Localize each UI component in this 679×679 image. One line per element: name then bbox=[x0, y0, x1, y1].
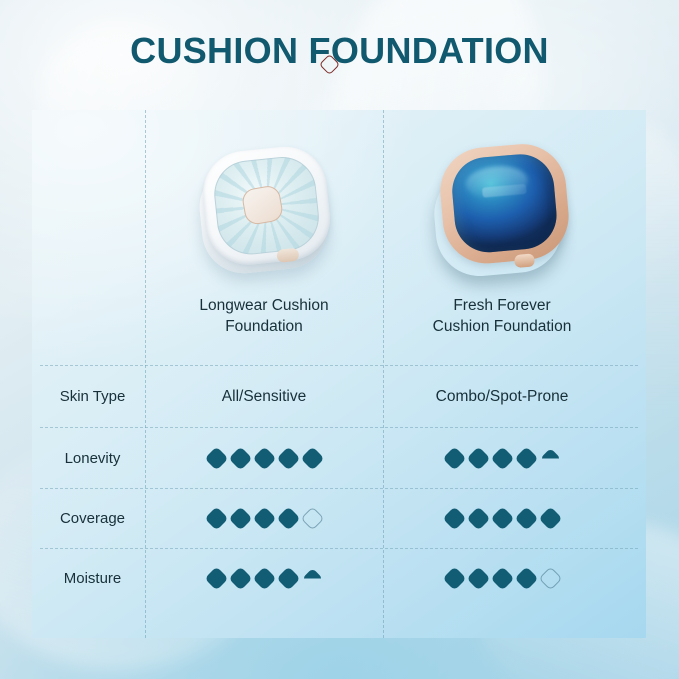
rating-diamond-full bbox=[446, 570, 463, 587]
rating-diamond-full bbox=[494, 570, 511, 587]
row-divider bbox=[40, 427, 638, 428]
longevity-rating-fresh-forever bbox=[383, 450, 621, 467]
rating-diamond-full bbox=[232, 510, 249, 527]
rating-diamond-empty bbox=[304, 510, 321, 527]
product-header-longwear[interactable]: Longwear Cushion Foundation bbox=[145, 124, 383, 364]
rating-diamond-half bbox=[304, 570, 321, 587]
rating-diamond-full bbox=[446, 510, 463, 527]
coverage-rating-fresh-forever bbox=[383, 510, 621, 527]
product-name-fresh-forever: Fresh Forever Cushion Foundation bbox=[383, 296, 621, 338]
navy-gold-cushion-compact-icon bbox=[422, 134, 582, 286]
rating-diamond-full bbox=[256, 570, 273, 587]
page-title: CUSHION FOUNDATION bbox=[130, 30, 549, 72]
rating-diamond-full bbox=[494, 510, 511, 527]
title-area: CUSHION FOUNDATION bbox=[0, 30, 679, 72]
rating-diamond-full bbox=[518, 510, 535, 527]
coverage-rating-longwear bbox=[145, 510, 383, 527]
product-header-fresh-forever[interactable]: Fresh Forever Cushion Foundation bbox=[383, 124, 621, 364]
skin-type-value-longwear: All/Sensitive bbox=[145, 388, 383, 406]
row-divider bbox=[40, 488, 638, 489]
rating-diamond-full bbox=[542, 510, 559, 527]
rating-diamond-full bbox=[256, 450, 273, 467]
skin-type-value-fresh-forever: Combo/Spot-Prone bbox=[383, 388, 621, 406]
rating-diamond-full bbox=[208, 510, 225, 527]
rating-diamond-full bbox=[518, 450, 535, 467]
rating-diamond-full bbox=[232, 570, 249, 587]
rating-diamond-full bbox=[280, 450, 297, 467]
rating-diamond-full bbox=[208, 450, 225, 467]
row-label-longevity: Lonevity bbox=[40, 450, 145, 467]
moisture-rating-longwear bbox=[145, 570, 383, 587]
rating-diamond-full bbox=[280, 570, 297, 587]
row-divider bbox=[40, 548, 638, 549]
rating-diamond-full bbox=[470, 450, 487, 467]
comparison-card: Longwear Cushion Foundation Fresh Foreve… bbox=[32, 110, 646, 638]
moisture-rating-fresh-forever bbox=[383, 570, 621, 587]
rating-diamond-half bbox=[542, 450, 559, 467]
row-label-skin-type: Skin Type bbox=[40, 388, 145, 405]
rating-diamond-full bbox=[208, 570, 225, 587]
rating-diamond-empty bbox=[542, 570, 559, 587]
comparison-table: Longwear Cushion Foundation Fresh Foreve… bbox=[32, 110, 646, 638]
longevity-rating-longwear bbox=[145, 450, 383, 467]
rating-diamond-full bbox=[446, 450, 463, 467]
rating-diamond-full bbox=[304, 450, 321, 467]
row-divider bbox=[40, 365, 638, 366]
rating-diamond-full bbox=[470, 570, 487, 587]
rating-diamond-full bbox=[518, 570, 535, 587]
rating-diamond-full bbox=[280, 510, 297, 527]
product-image-longwear bbox=[145, 124, 383, 296]
row-label-moisture: Moisture bbox=[40, 570, 145, 587]
rating-diamond-full bbox=[494, 450, 511, 467]
rating-diamond-full bbox=[470, 510, 487, 527]
rating-diamond-full bbox=[232, 450, 249, 467]
row-label-coverage: Coverage bbox=[40, 510, 145, 527]
product-image-fresh-forever bbox=[383, 124, 621, 296]
rating-diamond-full bbox=[256, 510, 273, 527]
white-pearl-cushion-compact-icon bbox=[191, 140, 337, 279]
product-name-longwear: Longwear Cushion Foundation bbox=[145, 296, 383, 338]
